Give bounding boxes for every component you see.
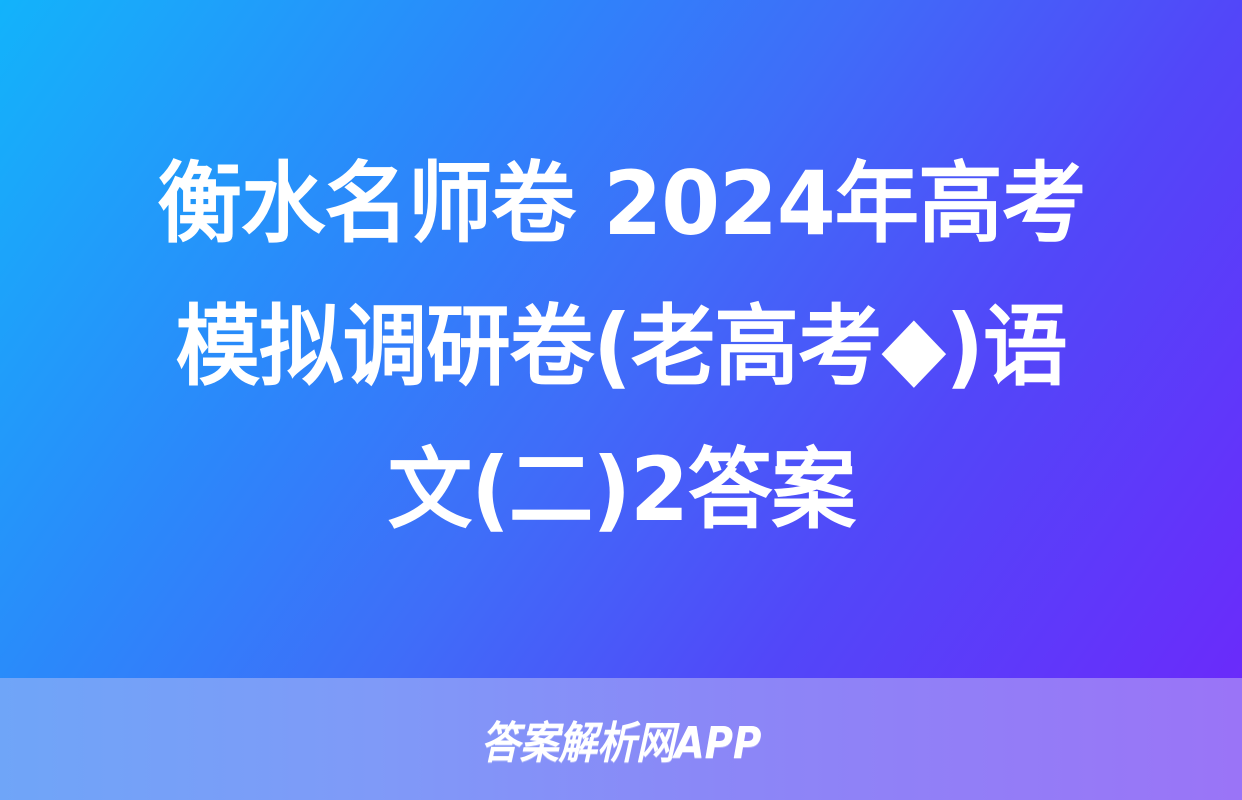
page-title-line-1: 衡水名师卷 2024年高考	[157, 132, 1085, 275]
page-title-line-2: 模拟调研卷(老高考◆)语	[176, 275, 1067, 418]
page-title-line-3: 文(二)2答案	[387, 418, 854, 561]
poster-canvas: 衡水名师卷 2024年高考 模拟调研卷(老高考◆)语 文(二)2答案 答案解析网…	[0, 0, 1242, 800]
watermark-band: 答案解析网APP	[0, 678, 1242, 800]
poster-title-block: 衡水名师卷 2024年高考 模拟调研卷(老高考◆)语 文(二)2答案	[0, 0, 1242, 678]
brand-watermark-label: 答案解析网APP	[481, 707, 761, 771]
